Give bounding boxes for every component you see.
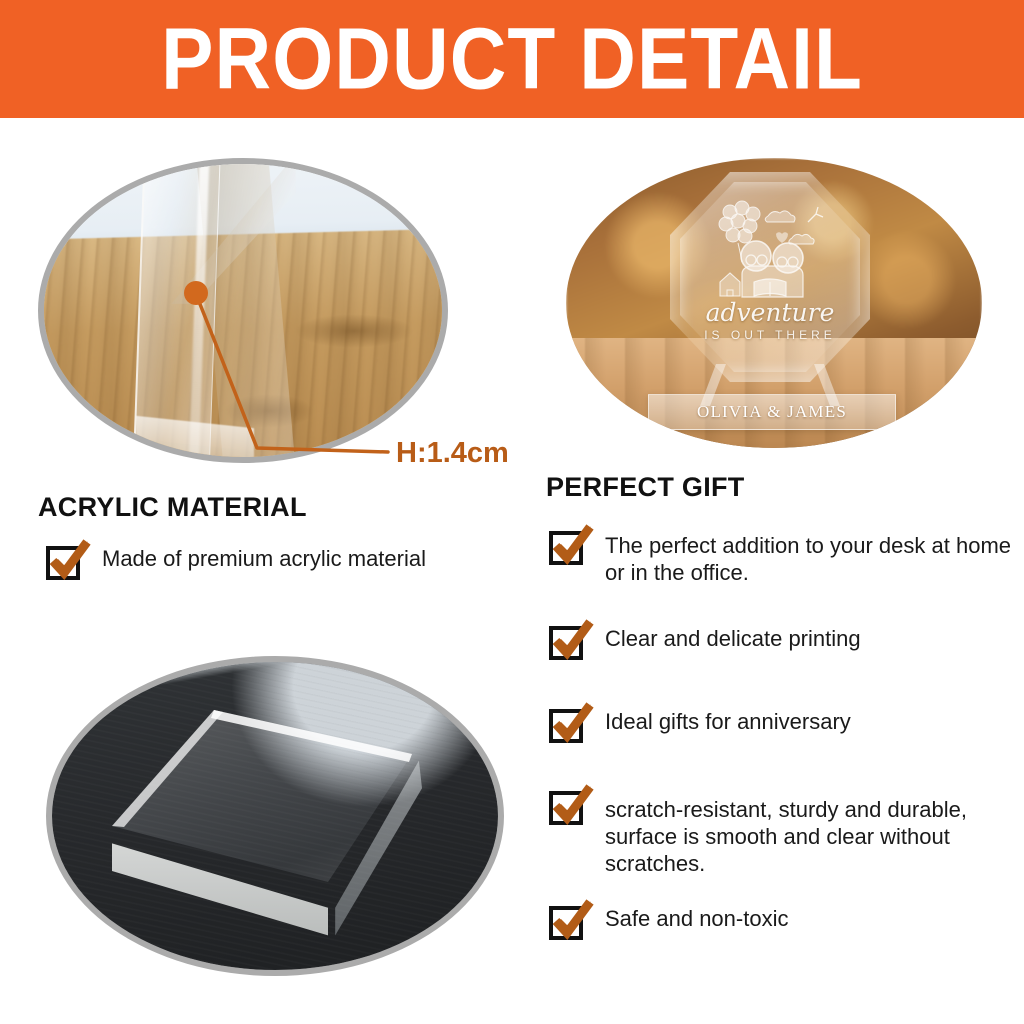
- checkbox-checked-icon: [549, 531, 583, 565]
- feature-list-item: Made of premium acrylic material: [46, 546, 426, 580]
- page-title: PRODUCT DETAIL: [161, 15, 863, 102]
- feature-list-item: Clear and delicate printing: [549, 626, 861, 660]
- engraved-couple-illustration: [696, 194, 846, 310]
- plaque-name-base: OLIVIA & JAMES: [648, 394, 896, 430]
- feature-list-item-label: Made of premium acrylic material: [102, 546, 426, 573]
- engraved-script-text: adventure: [670, 298, 870, 327]
- checkbox-checked-icon: [549, 626, 583, 660]
- feature-list-item-label: The perfect addition to your desk at hom…: [605, 533, 1024, 587]
- feature-list-item-label: Clear and delicate printing: [605, 626, 861, 653]
- feature-list-item: Ideal gifts for anniversary: [549, 709, 851, 743]
- photo-acrylic-edge-on-wood: [38, 158, 448, 463]
- feature-list-item: scratch-resistant, sturdy and durable, s…: [549, 791, 1024, 877]
- checkbox-checked-icon: [549, 906, 583, 940]
- section-heading-acrylic-material: ACRYLIC MATERIAL: [38, 492, 307, 523]
- height-label: H:1.4cm: [396, 437, 509, 470]
- feature-list-item-label: Ideal gifts for anniversary: [605, 709, 851, 736]
- section-heading-perfect-gift: PERFECT GIFT: [546, 472, 745, 503]
- photo-acrylic-block-on-slate: [46, 656, 504, 976]
- checkbox-checked-icon: [549, 791, 583, 825]
- feature-list-item-label: Safe and non-toxic: [605, 906, 788, 933]
- couple-names: OLIVIA & JAMES: [697, 402, 847, 422]
- feature-list-item: The perfect addition to your desk at hom…: [549, 531, 1024, 587]
- checkbox-checked-icon: [549, 709, 583, 743]
- photo-octagon-plaque: adventure IS OUT THERE OLIVIA & JAMES: [566, 158, 982, 448]
- page-header-banner: PRODUCT DETAIL: [0, 0, 1024, 118]
- checkbox-checked-icon: [46, 546, 80, 580]
- wood-knot: [294, 314, 414, 348]
- feature-list-item: Safe and non-toxic: [549, 906, 788, 940]
- octagon-acrylic-plaque: adventure IS OUT THERE: [670, 172, 870, 382]
- feature-list-item-label: scratch-resistant, sturdy and durable, s…: [605, 797, 1024, 877]
- engraved-sub-text: IS OUT THERE: [670, 328, 870, 342]
